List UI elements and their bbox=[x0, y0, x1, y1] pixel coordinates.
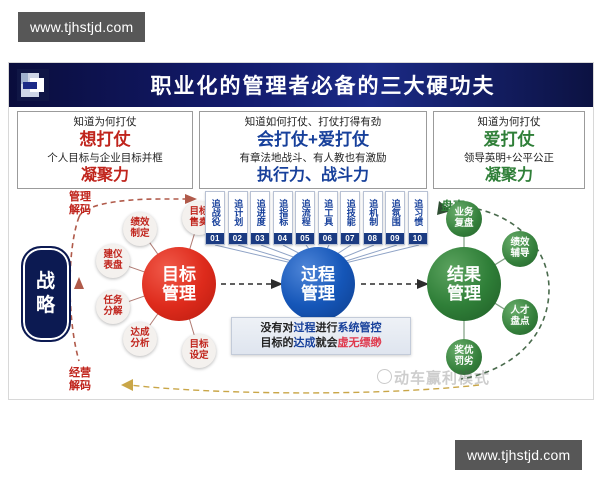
management-decode-line2: 解码 bbox=[69, 204, 91, 217]
header-box-2-sub: 有章法地战斗、有人教也有激励 bbox=[240, 151, 387, 165]
inner-watermark-text: 动车赢利模式 bbox=[394, 370, 490, 387]
process-card-08-num: 08 bbox=[364, 233, 382, 244]
caption-l1-b: 过程 bbox=[294, 322, 316, 334]
caption-l1-c: 进行 bbox=[316, 322, 338, 334]
header-box-1-top: 知道为何打仗 bbox=[74, 115, 137, 129]
process-card-row: 追战役 01 追计划 02 追进度 03 追指标 04 追流程 05 bbox=[205, 191, 431, 245]
sat-line2: 复盘 bbox=[454, 219, 473, 230]
header-box-2-top: 知道如何打仗、打仗打得有劲 bbox=[245, 115, 382, 129]
header-box-3-sub: 领导英明+公平公正 bbox=[464, 151, 554, 165]
header-box-love-to-fight: 知道为何打仗 爱打仗 领导英明+公平公正 凝聚力 bbox=[433, 111, 585, 189]
process-card-10-num: 10 bbox=[409, 233, 427, 244]
sat-line2: 分解 bbox=[103, 307, 122, 318]
caption-l1-d: 系统管控 bbox=[338, 322, 382, 334]
process-card-01-num: 01 bbox=[206, 233, 224, 244]
caption-l1-a: 没有对 bbox=[261, 322, 294, 334]
sat-line2: 表盘 bbox=[103, 261, 122, 272]
process-card-08-text: 追机制 bbox=[368, 194, 377, 230]
process-card-08: 追机制 08 bbox=[363, 191, 383, 245]
strategy-label-line1: 战 bbox=[36, 270, 56, 294]
goal-satellite-goal-setting: 目标 设定 bbox=[182, 334, 216, 368]
process-card-03: 追进度 03 bbox=[250, 191, 270, 245]
caption-line-2: 目标的达成就会虚无缥缈 bbox=[261, 336, 382, 351]
strategy-block: 战 略 bbox=[21, 246, 71, 342]
operation-decode-label: 经营 解码 bbox=[69, 367, 91, 393]
caption-l2-b: 达成 bbox=[294, 337, 316, 349]
result-satellite-business-review: 业务 复盘 bbox=[446, 201, 482, 237]
caption-l2-a: 目标的 bbox=[261, 337, 294, 349]
process-card-05: 追流程 05 bbox=[295, 191, 315, 245]
process-card-06: 追工具 06 bbox=[318, 191, 338, 245]
goal-satellite-achievement-analysis: 达成 分析 bbox=[123, 322, 157, 356]
process-card-04: 追指标 04 bbox=[273, 191, 293, 245]
header-box-row: 知道为何打仗 想打仗 个人目标与企业目标并框 凝聚力 知道如何打仗、打仗打得有劲… bbox=[17, 111, 585, 189]
process-card-09-text: 追氛围 bbox=[390, 194, 399, 230]
header-box-2-title: 会打仗+爱打仗 bbox=[257, 129, 369, 151]
process-card-01-text: 追战役 bbox=[210, 194, 219, 230]
result-satellite-talent-review: 人才 盘点 bbox=[502, 299, 538, 335]
hub-line1: 目标 bbox=[162, 265, 196, 284]
header-box-3-title: 爱打仗 bbox=[484, 129, 535, 151]
hub-result-management: 结果 管理 bbox=[427, 247, 501, 321]
caption-line-1: 没有对过程进行系统管控 bbox=[261, 321, 382, 336]
process-card-09: 追氛围 09 bbox=[385, 191, 405, 245]
process-card-10: 追习惯 10 bbox=[408, 191, 428, 245]
header-box-3-foot: 凝聚力 bbox=[485, 166, 533, 185]
page-title: 职业化的管理者必备的三大硬功夫 bbox=[61, 63, 585, 107]
goal-satellite-task-breakdown: 任务 分解 bbox=[96, 290, 130, 324]
diagram-canvas: 战 略 管理 解码 经营 解码 盘事 目标 售卖 绩效 制定 bbox=[9, 189, 593, 399]
process-card-03-num: 03 bbox=[251, 233, 269, 244]
sat-line2: 盘点 bbox=[510, 317, 529, 328]
process-card-07-num: 07 bbox=[341, 233, 359, 244]
header-box-1-foot: 凝聚力 bbox=[81, 166, 129, 185]
header-box-can-and-love-to-fight: 知道如何打仗、打仗打得有劲 会打仗+爱打仗 有章法地战斗、有人教也有激励 执行力… bbox=[199, 111, 427, 189]
process-card-07: 追技能 07 bbox=[340, 191, 360, 245]
slide-page: www.tjhstjd.com www.tjhstjd.com 职业化的管理者必… bbox=[0, 0, 600, 480]
hub-line1: 过程 bbox=[301, 265, 335, 284]
process-card-06-text: 追工具 bbox=[323, 194, 332, 230]
header-box-2-foot: 执行力、战斗力 bbox=[257, 166, 369, 185]
caption-l2-c: 就会 bbox=[316, 337, 338, 349]
process-card-02: 追计划 02 bbox=[228, 191, 248, 245]
hub-line2: 管理 bbox=[162, 284, 196, 303]
result-satellite-performance-coaching: 绩效 辅导 bbox=[502, 231, 538, 267]
process-caption-box: 没有对过程进行系统管控 目标的达成就会虚无缥缈 bbox=[231, 317, 411, 355]
process-card-07-text: 追技能 bbox=[345, 194, 354, 230]
process-card-04-num: 04 bbox=[274, 233, 292, 244]
inner-watermark: 动车赢利模式 bbox=[377, 367, 490, 388]
sat-line2: 辅导 bbox=[510, 249, 529, 260]
header-box-1-sub: 个人目标与企业目标并框 bbox=[47, 151, 163, 165]
slide-title-bar: 职业化的管理者必备的三大硬功夫 bbox=[9, 63, 593, 107]
caption-l2-d: 虚无缥缈 bbox=[338, 337, 382, 349]
operation-decode-line2: 解码 bbox=[69, 380, 91, 393]
sat-line2: 设定 bbox=[189, 351, 208, 362]
process-card-06-num: 06 bbox=[319, 233, 337, 244]
header-box-want-to-fight: 知道为何打仗 想打仗 个人目标与企业目标并框 凝聚力 bbox=[17, 111, 193, 189]
process-card-04-text: 追指标 bbox=[278, 194, 287, 230]
process-card-05-text: 追流程 bbox=[300, 194, 309, 230]
goal-satellite-dashboard: 建仪 表盘 bbox=[96, 244, 130, 278]
process-card-02-text: 追计划 bbox=[233, 194, 242, 230]
goal-satellite-performance-setting: 绩效 制定 bbox=[123, 212, 157, 246]
management-decode-label: 管理 解码 bbox=[69, 191, 91, 217]
header-box-3-top: 知道为何打仗 bbox=[478, 115, 541, 129]
watermark-url-bottom: www.tjhstjd.com bbox=[455, 440, 582, 470]
hub-goal-management: 目标 管理 bbox=[142, 247, 216, 321]
process-card-01: 追战役 01 bbox=[205, 191, 225, 245]
process-card-05-num: 05 bbox=[296, 233, 314, 244]
management-decode-line1: 管理 bbox=[69, 191, 91, 204]
slide-frame: 职业化的管理者必备的三大硬功夫 知道为何打仗 想打仗 个人目标与企业目标并框 凝… bbox=[8, 62, 594, 400]
sat-line2: 分析 bbox=[130, 339, 149, 350]
process-card-03-text: 追进度 bbox=[255, 194, 264, 230]
hub-line1: 结果 bbox=[447, 265, 481, 284]
watermark-url-top: www.tjhstjd.com bbox=[18, 12, 145, 42]
process-card-02-num: 02 bbox=[229, 233, 247, 244]
strategy-label-line2: 略 bbox=[36, 294, 56, 318]
sat-line2: 制定 bbox=[130, 229, 149, 240]
hub-line2: 管理 bbox=[301, 284, 335, 303]
hub-line2: 管理 bbox=[447, 284, 481, 303]
powerpoint-logo-icon bbox=[17, 69, 49, 101]
process-card-09-num: 09 bbox=[386, 233, 404, 244]
operation-decode-line1: 经营 bbox=[69, 367, 91, 380]
at-ring-icon bbox=[377, 369, 392, 384]
header-box-1-title: 想打仗 bbox=[80, 129, 131, 151]
hub-process-management: 过程 管理 bbox=[281, 247, 355, 321]
process-card-10-text: 追习惯 bbox=[413, 194, 422, 230]
